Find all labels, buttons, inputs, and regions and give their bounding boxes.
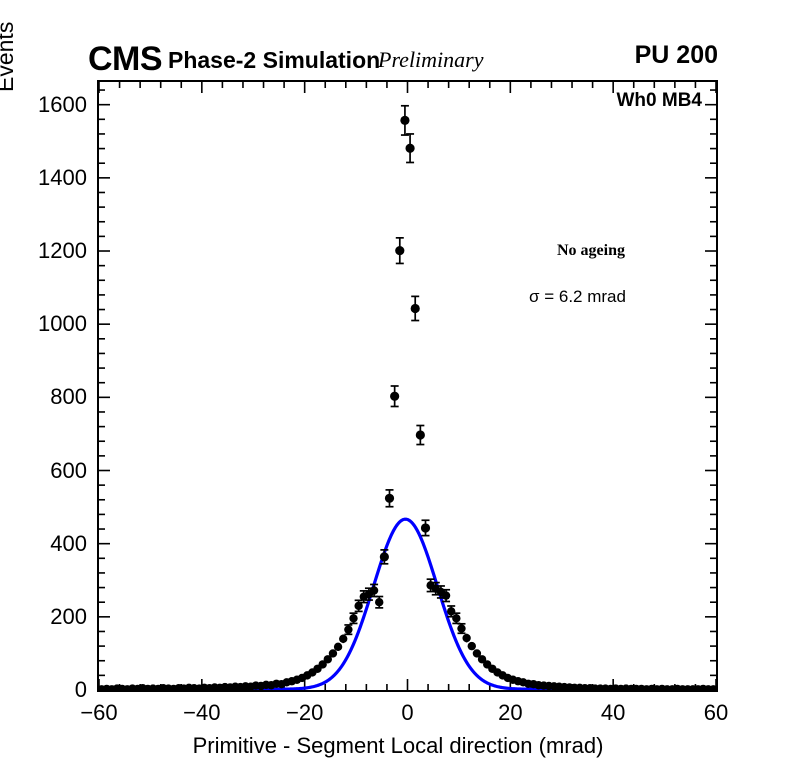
chamber-label: Wh0 MB4 bbox=[617, 90, 703, 112]
x-tick-label: −20 bbox=[286, 700, 323, 726]
x-tick-label: 0 bbox=[401, 700, 413, 726]
y-tick-label: 1000 bbox=[38, 311, 87, 337]
y-tick-label: 0 bbox=[75, 677, 87, 703]
x-tick-label: 40 bbox=[601, 700, 625, 726]
x-tick-label: −40 bbox=[183, 700, 220, 726]
y-tick-label: 600 bbox=[50, 458, 87, 484]
pileup-label: PU 200 bbox=[635, 43, 718, 68]
simulation-label: Phase-2 Simulation bbox=[168, 49, 380, 72]
y-axis-title: Events bbox=[0, 22, 19, 92]
y-tick-label: 200 bbox=[50, 604, 87, 630]
plot-header: CMS Phase-2 Simulation Preliminary PU 20… bbox=[0, 0, 796, 80]
plot-canvas: CMS Phase-2 Simulation Preliminary PU 20… bbox=[0, 0, 796, 772]
data-points bbox=[99, 106, 716, 690]
gaussian-fit-curve bbox=[99, 519, 716, 689]
axis-ticks bbox=[99, 82, 716, 690]
preliminary-label: Preliminary bbox=[378, 49, 484, 71]
x-tick-label: 20 bbox=[498, 700, 522, 726]
cms-logo-text: CMS bbox=[88, 42, 162, 76]
y-tick-label: 1200 bbox=[38, 238, 87, 264]
plot-data-layer bbox=[99, 82, 716, 690]
x-tick-label: 60 bbox=[704, 700, 728, 726]
y-tick-label: 400 bbox=[50, 531, 87, 557]
y-tick-label: 1600 bbox=[38, 92, 87, 118]
x-tick-label: −60 bbox=[80, 700, 117, 726]
sigma-label: σ = 6.2 mrad bbox=[529, 287, 626, 307]
y-tick-label: 1400 bbox=[38, 165, 87, 191]
x-axis-title: Primitive - Segment Local direction (mra… bbox=[0, 733, 796, 759]
y-tick-label: 800 bbox=[50, 384, 87, 410]
plot-frame: Wh0 MB4 No ageing σ = 6.2 mrad bbox=[97, 80, 718, 692]
ageing-label: No ageing bbox=[557, 242, 625, 260]
